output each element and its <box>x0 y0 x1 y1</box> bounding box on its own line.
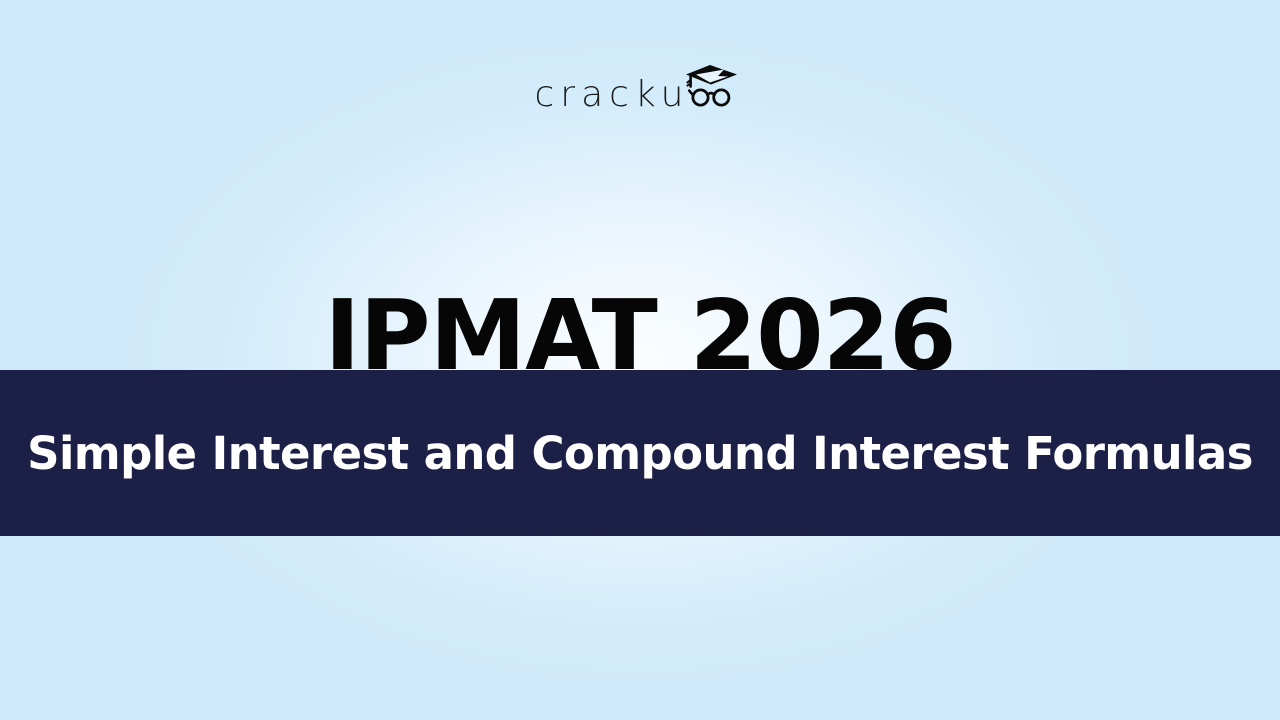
logo-wordmark: cracku <box>534 77 691 113</box>
graduation-cap-glasses-icon <box>684 59 738 109</box>
banner-canvas: cracku <box>0 0 1280 720</box>
logo-lockup[interactable]: cracku <box>534 55 745 111</box>
subtitle-text: Simple Interest and Compound Interest Fo… <box>17 431 1263 476</box>
subtitle-band: Simple Interest and Compound Interest Fo… <box>0 370 1280 536</box>
brand-logo[interactable]: cracku <box>0 52 1280 114</box>
